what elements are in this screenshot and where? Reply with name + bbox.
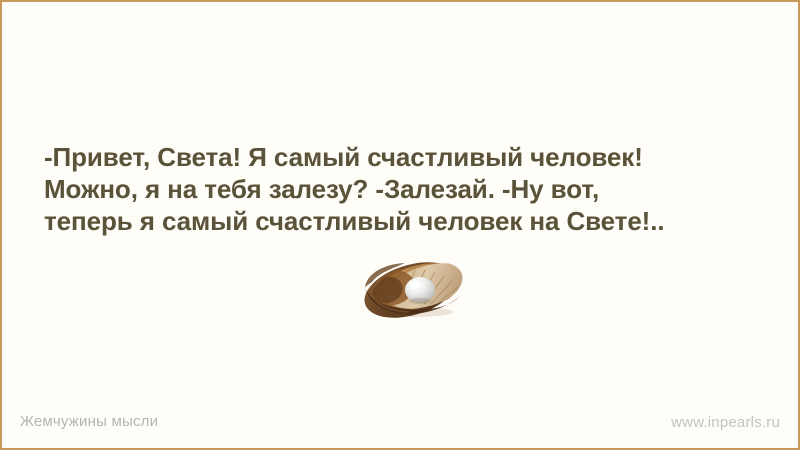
quote-line-3: теперь я самый счастливый человек на Све… — [44, 205, 768, 237]
quote-card: -Привет, Света! Я самый счастливый челов… — [0, 0, 800, 450]
oyster-shell-with-pearl-icon — [357, 254, 473, 320]
quote-line-2: Можно, я на тебя залезу? -Залезай. -Ну в… — [44, 173, 768, 205]
site-url-label: www.inpearls.ru — [671, 414, 780, 431]
quote-text: -Привет, Света! Я самый счастливый челов… — [44, 141, 768, 237]
quote-line-1: -Привет, Света! Я самый счастливый челов… — [44, 141, 768, 173]
site-brand-label: Жемчужины мысли — [20, 413, 158, 430]
